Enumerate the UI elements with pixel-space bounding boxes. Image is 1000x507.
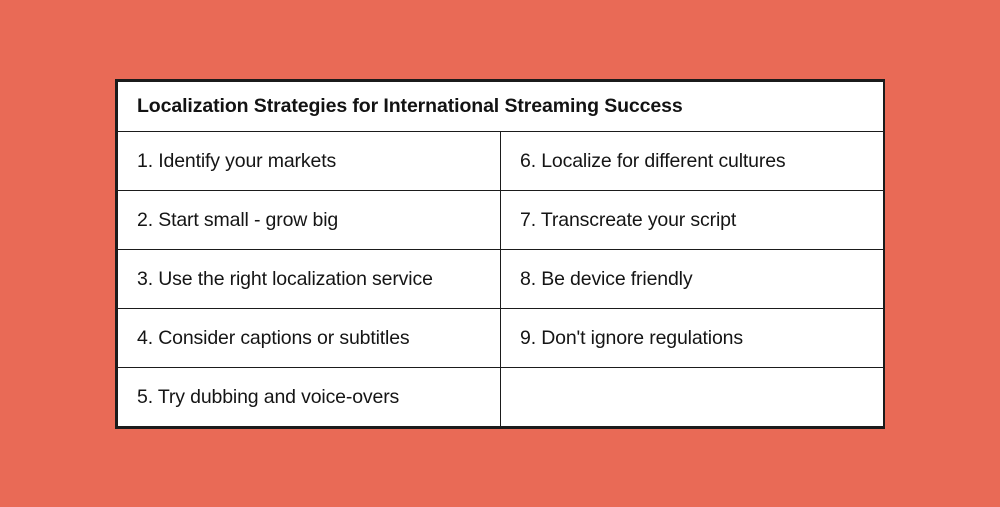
list-item-2: 2. Start small - grow big xyxy=(118,191,501,250)
list-item-3: 3. Use the right localization service xyxy=(118,250,501,309)
list-item-1: 1. Identify your markets xyxy=(118,132,501,191)
page-title: Localization Strategies for Internationa… xyxy=(118,82,884,132)
list-item-6: 6. Localize for different cultures xyxy=(501,132,884,191)
list-item-9: 9. Don't ignore regulations xyxy=(501,309,884,368)
list-item-8: 8. Be device friendly xyxy=(501,250,884,309)
list-item-7: 7. Transcreate your script xyxy=(501,191,884,250)
list-item-5: 5. Try dubbing and voice-overs xyxy=(118,368,501,427)
table-header-row: Localization Strategies for Internationa… xyxy=(118,82,884,132)
table-row: 3. Use the right localization service 8.… xyxy=(118,250,884,309)
table-row: 2. Start small - grow big 7. Transcreate… xyxy=(118,191,884,250)
strategies-grid: Localization Strategies for Internationa… xyxy=(117,81,884,427)
localization-strategies-table: Localization Strategies for Internationa… xyxy=(115,79,885,429)
table-row: 1. Identify your markets 6. Localize for… xyxy=(118,132,884,191)
page-canvas: Localization Strategies for Internationa… xyxy=(0,0,1000,507)
list-item-4: 4. Consider captions or subtitles xyxy=(118,309,501,368)
table-row: 5. Try dubbing and voice-overs xyxy=(118,368,884,427)
table-row: 4. Consider captions or subtitles 9. Don… xyxy=(118,309,884,368)
list-item-empty xyxy=(501,368,884,427)
